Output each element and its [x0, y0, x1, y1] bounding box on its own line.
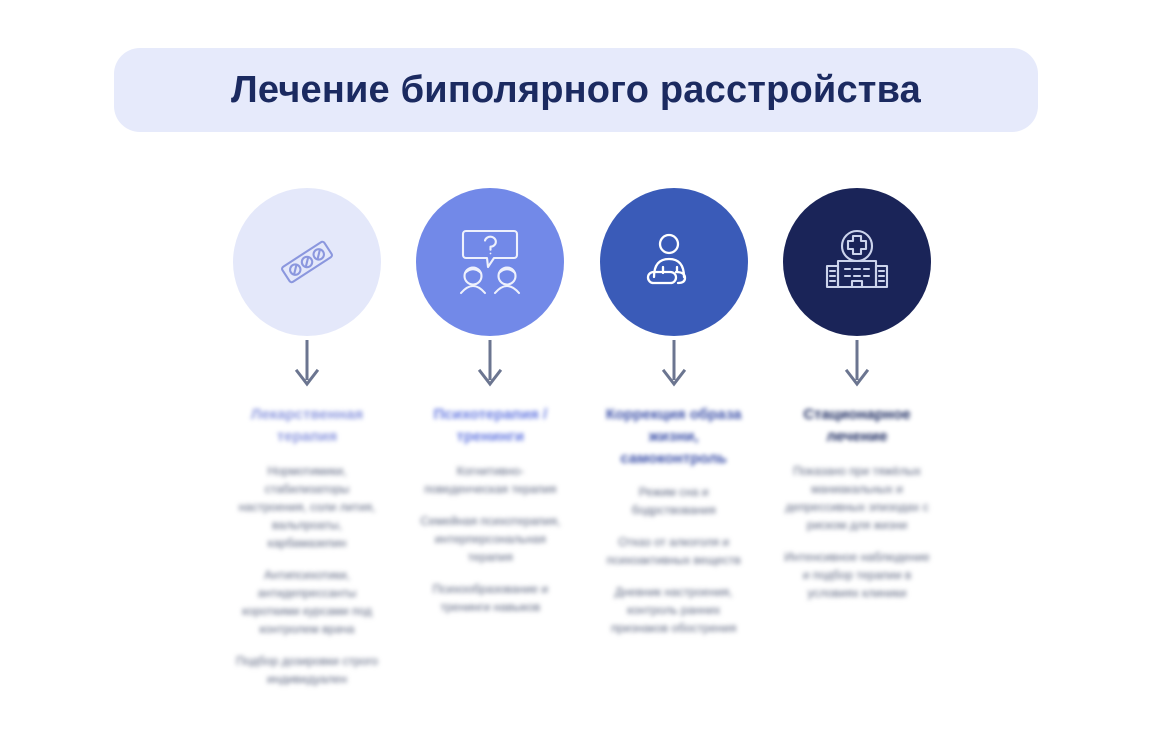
column-lifestyle: Коррекция образа жизни, самоконтроль Реж… [599, 188, 749, 718]
paragraph: Когнитивно-поведенческая терапия [416, 462, 564, 498]
body-inpatient: Показано при тяжёлых маниакальных и депр… [783, 462, 931, 602]
circle-medication[interactable] [233, 188, 381, 336]
column-medication: Лекарственная терапия Нормотимики, стаби… [232, 188, 382, 718]
body-medication: Нормотимики, стабилизаторы настроения, с… [233, 462, 381, 688]
down-arrow-connector [657, 340, 691, 392]
heading-medication: Лекарственная терапия [232, 404, 382, 448]
heading-psychotherapy: Психотерапия / тренинги [415, 404, 565, 448]
paragraph: Режим сна и бодрствования [600, 483, 748, 519]
title-banner: Лечение биполярного расстройства [114, 48, 1038, 132]
paragraph: Интенсивное наблюдение и подбор терапии … [783, 548, 931, 602]
paragraph: Дневник настроения, контроль ранних приз… [600, 583, 748, 637]
pill-blister-pack-icon [268, 223, 346, 301]
hospital-building-icon [818, 223, 896, 301]
page-title: Лечение биполярного расстройства [231, 69, 921, 112]
down-arrow-connector [473, 340, 507, 392]
heading-lifestyle: Коррекция образа жизни, самоконтроль [599, 404, 749, 469]
paragraph: Отказ от алкоголя и психоактивных вещест… [600, 533, 748, 569]
down-arrow-connector [290, 340, 324, 392]
treatment-columns: Лекарственная терапия Нормотимики, стаби… [232, 188, 932, 718]
meditating-person-icon [637, 225, 711, 299]
paragraph: Семейная психотерапия, интерперсональная… [416, 512, 564, 566]
paragraph: Нормотимики, стабилизаторы настроения, с… [233, 462, 381, 552]
circle-inpatient[interactable] [783, 188, 931, 336]
paragraph: Подбор дозировки строго индивидуален [233, 652, 381, 688]
heading-inpatient: Стационарное лечение [782, 404, 932, 448]
speech-bubble-question-people-icon [449, 221, 531, 303]
column-inpatient: Стационарное лечение Показано при тяжёлы… [782, 188, 932, 718]
circle-psychotherapy[interactable] [416, 188, 564, 336]
circle-lifestyle[interactable] [600, 188, 748, 336]
body-lifestyle: Режим сна и бодрствования Отказ от алког… [600, 483, 748, 637]
column-psychotherapy: Психотерапия / тренинги Когнитивно-повед… [415, 188, 565, 718]
paragraph: Показано при тяжёлых маниакальных и депр… [783, 462, 931, 534]
paragraph: Психообразование и тренинги навыков [416, 580, 564, 616]
body-psychotherapy: Когнитивно-поведенческая терапия Семейна… [416, 462, 564, 616]
down-arrow-connector [840, 340, 874, 392]
paragraph: Антипсихотики, антидепрессанты короткими… [233, 566, 381, 638]
infographic-canvas: Лечение биполярного расстройства [0, 0, 1152, 753]
